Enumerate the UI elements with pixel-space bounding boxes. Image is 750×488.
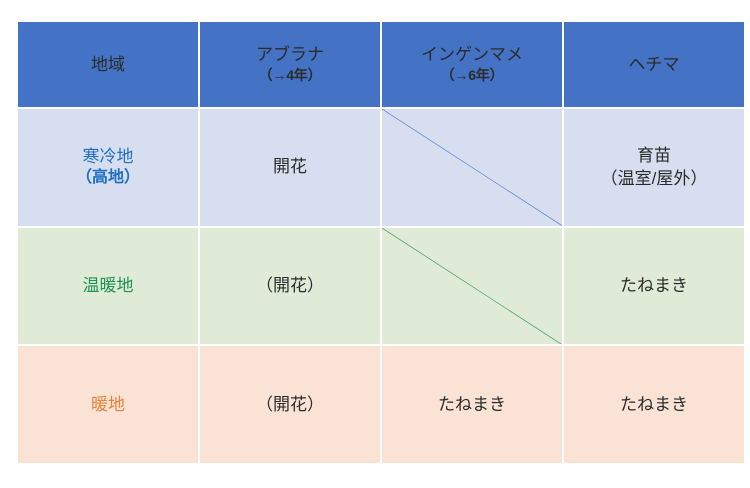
cell-kanreichi-hechima: 育苗 （温室/屋外） [564,109,744,226]
cell-danchi-hechima-text: たねまき [620,395,688,414]
cell-ondanchi-abura: （開花） [200,228,380,345]
cell-ondanchi-hechima-text: たねまき [620,276,688,295]
column-header-hechima-label: ヘチマ [629,55,680,74]
table-body: 寒冷地 （高地） 開花 育苗 （温室/屋外） [18,109,744,463]
row-region-ondanchi-label: 温暖地 [83,276,134,295]
table-row: 暖地 （開花） たねまき たねまき [18,346,744,463]
page-canvas: 地域 アブラナ （→4年） インゲンマメ （→6年） ヘチマ [0,0,750,488]
cell-kanreichi-hechima-text2: （温室/屋外） [568,168,740,190]
cell-kanreichi-abura-text: 開花 [273,157,307,176]
table-row: 寒冷地 （高地） 開花 育苗 （温室/屋外） [18,109,744,226]
row-region-danchi-label: 暖地 [91,395,125,414]
schedule-table-container: 地域 アブラナ （→4年） インゲンマメ （→6年） ヘチマ [16,20,735,465]
row-region-danchi: 暖地 [18,346,198,463]
column-header-ingen-sub: （→6年） [386,67,558,85]
cell-ondanchi-abura-text: （開花） [256,276,324,295]
cell-danchi-ingen-text: たねまき [438,395,506,414]
header-row: 地域 アブラナ （→4年） インゲンマメ （→6年） ヘチマ [18,22,744,107]
column-header-region: 地域 [18,22,198,107]
cell-danchi-hechima: たねまき [564,346,744,463]
cell-danchi-abura: （開花） [200,346,380,463]
schedule-table: 地域 アブラナ （→4年） インゲンマメ （→6年） ヘチマ [16,20,746,465]
cell-ondanchi-hechima: たねまき [564,228,744,345]
row-region-kanreichi: 寒冷地 （高地） [18,109,198,226]
diagonal-strike-icon [382,228,562,345]
column-header-abura: アブラナ （→4年） [200,22,380,107]
column-header-ingen: インゲンマメ （→6年） [382,22,562,107]
cell-ondanchi-ingen-diagonal [382,228,562,345]
cell-danchi-abura-text: （開花） [256,395,324,414]
cell-kanreichi-abura: 開花 [200,109,380,226]
column-header-abura-label: アブラナ [256,45,324,64]
diagonal-strike-icon [382,109,562,226]
row-region-ondanchi: 温暖地 [18,228,198,345]
table-row: 温暖地 （開花） たねまき [18,228,744,345]
column-header-hechima: ヘチマ [564,22,744,107]
column-header-region-label: 地域 [91,55,125,74]
column-header-ingen-label: インゲンマメ [421,45,523,64]
cell-kanreichi-hechima-text: 育苗 [637,146,671,165]
cell-danchi-ingen: たねまき [382,346,562,463]
table-header: 地域 アブラナ （→4年） インゲンマメ （→6年） ヘチマ [18,22,744,107]
row-region-kanreichi-sub: （高地） [22,168,194,188]
row-region-kanreichi-label: 寒冷地 [83,147,134,166]
cell-kanreichi-ingen-diagonal [382,109,562,226]
column-header-abura-sub: （→4年） [204,67,376,85]
